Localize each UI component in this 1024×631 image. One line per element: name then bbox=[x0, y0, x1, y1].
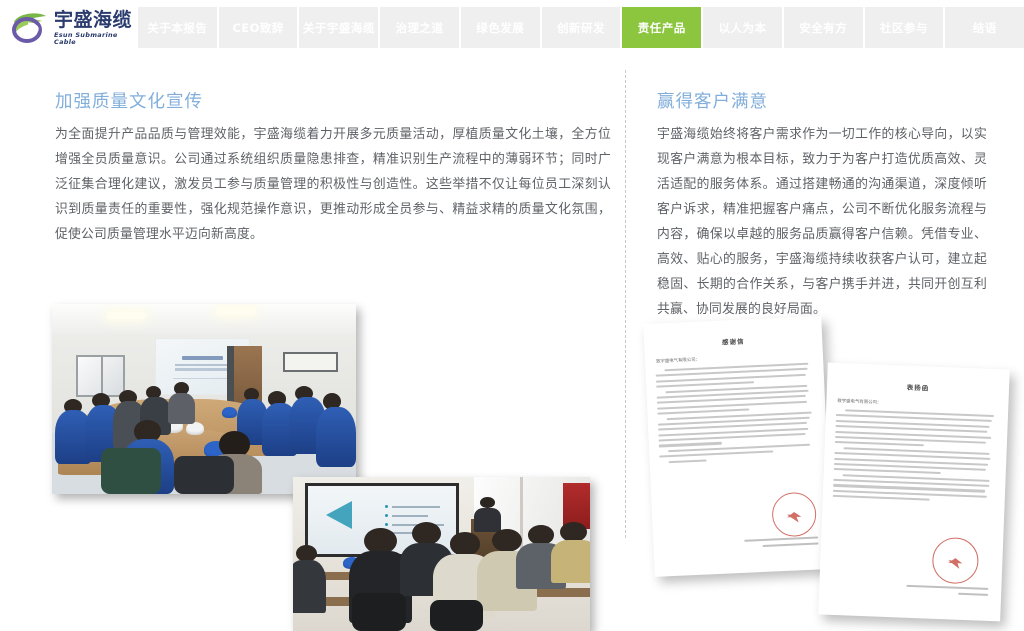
right-section-heading: 赢得客户满意 bbox=[657, 88, 987, 113]
page-content: 加强质量文化宣传 为全面提升产品品质与管理效能，宇盛海缆着力开展多元质量活动，厚… bbox=[0, 56, 1024, 576]
photo-quality-training bbox=[293, 477, 590, 631]
letter-signature-block bbox=[744, 537, 818, 551]
letter-date bbox=[762, 542, 818, 547]
nav-tab-people[interactable]: 以人为本 bbox=[703, 7, 784, 48]
nav-tab-list: 关于本报告 CEO致辞 关于宇盛海缆 治理之道 绿色发展 创新研发 责任产品 以… bbox=[138, 7, 1024, 48]
nav-tab-about-report[interactable]: 关于本报告 bbox=[138, 7, 219, 48]
letter-body-lines bbox=[655, 362, 817, 463]
logo-swirl-icon bbox=[8, 8, 52, 48]
nav-tab-epilogue[interactable]: 结语 bbox=[945, 7, 1024, 48]
left-section-body: 为全面提升产品品质与管理效能，宇盛海缆着力开展多元质量活动，厚植质量文化土壤，全… bbox=[55, 122, 611, 247]
nav-tab-governance[interactable]: 治理之道 bbox=[380, 7, 461, 48]
nav-tab-safety[interactable]: 安全有方 bbox=[784, 7, 865, 48]
nav-tab-community[interactable]: 社区参与 bbox=[865, 7, 946, 48]
letter-title: 表扬函 bbox=[827, 379, 1009, 396]
letter-commendation: 表扬函 致宇盛电气有限公司： bbox=[818, 363, 1010, 622]
nav-tab-about-company[interactable]: 关于宇盛海缆 bbox=[299, 7, 380, 48]
letter-signature bbox=[906, 585, 988, 590]
left-column: 加强质量文化宣传 为全面提升产品品质与管理效能，宇盛海缆着力开展多元质量活动，厚… bbox=[55, 88, 611, 247]
logo-name-cn: 宇盛海缆 bbox=[54, 11, 138, 30]
column-divider bbox=[625, 70, 626, 538]
letter-body-lines bbox=[833, 409, 998, 503]
letter-signature bbox=[744, 537, 818, 542]
nav-tab-responsible-products[interactable]: 责任产品 bbox=[622, 7, 703, 48]
right-section-body: 宇盛海缆始终将客户需求作为一切工作的核心导向，以实现客户满意为根本目标，致力于为… bbox=[657, 122, 987, 322]
nav-tab-green[interactable]: 绿色发展 bbox=[461, 7, 542, 48]
letter-addressee: 致宇盛电气有限公司： bbox=[837, 398, 1008, 411]
right-column: 赢得客户满意 宇盛海缆始终将客户需求作为一切工作的核心导向，以实现客户满意为根本… bbox=[657, 88, 987, 322]
nav-tab-innovation[interactable]: 创新研发 bbox=[542, 7, 623, 48]
letter-title: 感谢信 bbox=[644, 332, 822, 350]
letter-thank-you: 感谢信 致宇盛电气有限公司： bbox=[643, 316, 832, 577]
photo-quality-meeting bbox=[52, 304, 356, 494]
top-navigation-bar: 宇盛海缆 Esun Submarine Cable 关于本报告 CEO致辞 关于… bbox=[0, 0, 1024, 56]
red-seal-stamp-icon bbox=[771, 492, 817, 538]
nav-tab-ceo-message[interactable]: CEO致辞 bbox=[219, 7, 300, 48]
letter-signature-block bbox=[906, 585, 988, 599]
letter-date bbox=[958, 592, 988, 595]
logo-name-en: Esun Submarine Cable bbox=[54, 32, 138, 45]
brand-logo[interactable]: 宇盛海缆 Esun Submarine Cable bbox=[0, 0, 138, 56]
red-seal-stamp-icon bbox=[932, 537, 980, 585]
left-section-heading: 加强质量文化宣传 bbox=[55, 88, 611, 113]
